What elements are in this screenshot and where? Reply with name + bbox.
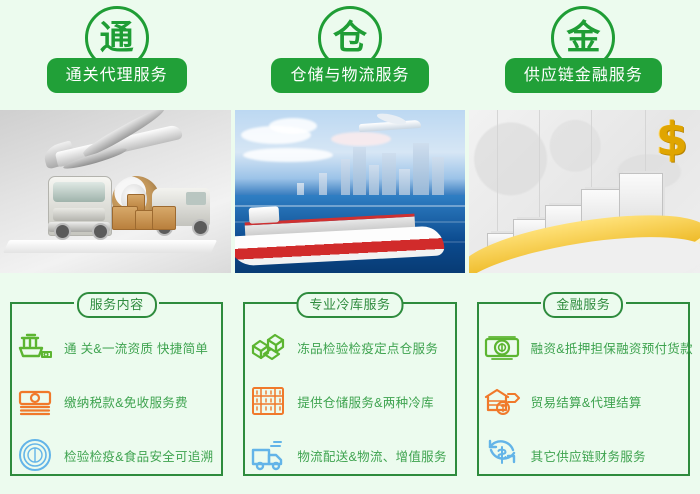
customs-ship-icon bbox=[14, 326, 56, 368]
list-item[interactable]: 其它供应链财务服务 bbox=[481, 432, 686, 478]
list-item[interactable]: 贸易结算&代理结算 bbox=[481, 378, 686, 424]
list-item-label: 检验检疫&食品安全可追溯 bbox=[64, 446, 213, 465]
list-item[interactable]: 物流配送&物流、增值服务 bbox=[247, 432, 452, 478]
list-item[interactable]: 检验检疫&食品安全可追溯 bbox=[14, 432, 219, 478]
list-item-label: 融资&抵押担保融资预付货款 bbox=[531, 338, 693, 357]
list-item-label: 提供仓储服务&两种冷库 bbox=[297, 392, 434, 411]
list-item-label: 冻品检验检疫定点仓服务 bbox=[297, 338, 438, 357]
list-item[interactable]: 缴纳税款&免收服务费 bbox=[14, 378, 219, 424]
badge-label-finance[interactable]: 供应链金融服务 bbox=[506, 59, 661, 92]
panel-financial-service: 金融服务 融资&抵押担保融资预付货款 bbox=[471, 288, 696, 494]
badge-label-customs[interactable]: 通关代理服务 bbox=[48, 59, 186, 92]
air-and-road-freight-photo bbox=[0, 110, 231, 273]
list-item-label: 贸易结算&代理结算 bbox=[531, 392, 642, 411]
list-item-label: 通 关&一流资质 快捷简单 bbox=[64, 338, 208, 357]
badge-glyph: 通 bbox=[100, 21, 134, 55]
badge-customs[interactable]: 通 通关代理服务 bbox=[0, 0, 233, 104]
cash-stack-icon bbox=[14, 380, 56, 422]
container-ship-photo bbox=[235, 110, 466, 273]
panel-cold-storage: 专业冷库服务 冻品检验检疫定点仓服务 bbox=[237, 288, 462, 494]
list-item[interactable]: 提供仓储服务&两种冷库 bbox=[247, 378, 452, 424]
list-item[interactable]: 通 关&一流资质 快捷简单 bbox=[14, 324, 219, 370]
badge-finance[interactable]: 金 供应链金融服务 bbox=[467, 0, 700, 104]
panel-title-cold-storage: 专业冷库服务 bbox=[296, 292, 403, 318]
badge-glyph: 仓 bbox=[333, 21, 367, 55]
panel-title-financial-service: 金融服务 bbox=[543, 292, 623, 318]
photo-strip: $ bbox=[0, 110, 700, 273]
delivery-truck-icon bbox=[247, 434, 289, 476]
panel-service-content: 服务内容 通 关&一流资质 快捷简单 bbox=[4, 288, 229, 494]
stacked-boxes-icon bbox=[247, 326, 289, 368]
badge-warehouse[interactable]: 仓 仓储与物流服务 bbox=[233, 0, 466, 104]
panel-title-service-content: 服务内容 bbox=[77, 292, 157, 318]
list-item-label: 其它供应链财务服务 bbox=[531, 446, 646, 465]
refresh-dollar-icon bbox=[481, 434, 523, 476]
inspection-seal-icon bbox=[14, 434, 56, 476]
service-badge-header: 通 通关代理服务 仓 仓储与物流服务 金 供应链金融服务 bbox=[0, 0, 700, 104]
coins-dollar-icon bbox=[481, 326, 523, 368]
list-item[interactable]: 冻品检验检疫定点仓服务 bbox=[247, 324, 452, 370]
dollar-sign-icon: $ bbox=[656, 116, 688, 162]
list-item-label: 物流配送&物流、增值服务 bbox=[297, 446, 446, 465]
list-item[interactable]: 融资&抵押担保融资预付货款 bbox=[481, 324, 686, 370]
list-item-label: 缴纳税款&免收服务费 bbox=[64, 392, 188, 411]
badge-glyph: 金 bbox=[566, 21, 600, 55]
service-detail-panels: 服务内容 通 关&一流资质 快捷简单 bbox=[0, 288, 700, 494]
badge-label-warehouse[interactable]: 仓储与物流服务 bbox=[272, 59, 427, 92]
warehouse-rack-icon bbox=[247, 380, 289, 422]
bank-transfer-icon bbox=[481, 380, 523, 422]
financial-growth-photo: $ bbox=[469, 110, 700, 273]
